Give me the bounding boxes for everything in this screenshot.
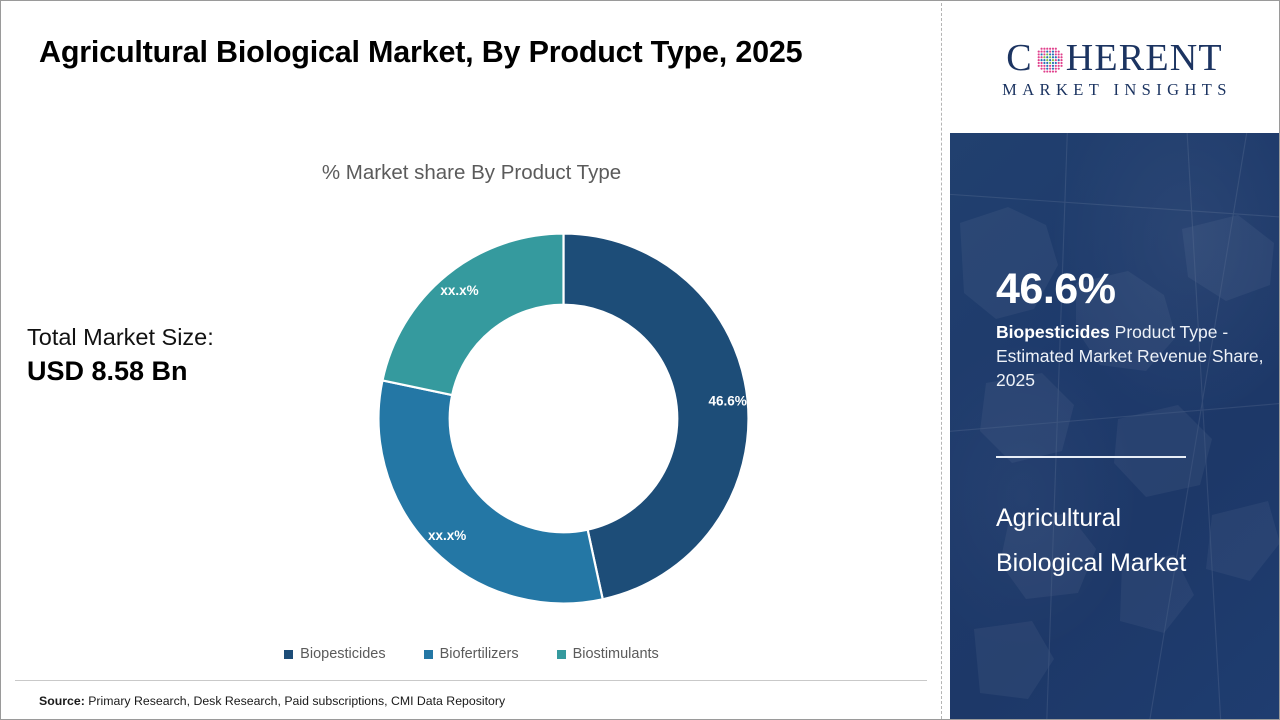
globe-dot: [1046, 53, 1048, 55]
source-note: Source: Primary Research, Desk Research,…: [39, 694, 505, 708]
stat-divider: [996, 456, 1186, 458]
sidebar-market-name: Agricultural Biological Market: [996, 496, 1211, 586]
logo-letters-rest: HERENT: [1066, 39, 1223, 77]
donut-chart-svg: 46.6%xx.x%xx.x%: [376, 226, 751, 611]
globe-dot: [1060, 62, 1062, 64]
globe-dot: [1049, 48, 1051, 50]
globe-dot: [1043, 56, 1045, 58]
logo-letter-c: C: [1006, 39, 1033, 77]
legend-item-biostimulants[interactable]: Biostimulants: [557, 646, 659, 662]
globe-dot: [1037, 65, 1039, 67]
globe-dot: [1060, 53, 1062, 55]
globe-dot: [1057, 53, 1059, 55]
globe-dot: [1046, 70, 1048, 72]
globe-dot: [1052, 50, 1054, 52]
globe-dot: [1060, 59, 1062, 61]
globe-dot: [1049, 62, 1051, 64]
globe-dot: [1052, 48, 1054, 50]
legend-item-biopesticides[interactable]: Biopesticides: [284, 646, 385, 662]
panel-separator: [941, 3, 942, 719]
globe-dot: [1046, 50, 1048, 52]
globe-dot: [1060, 56, 1062, 58]
total-market-size-block: Total Market Size: USD 8.58 Bn: [27, 323, 327, 389]
globe-dot: [1046, 59, 1048, 61]
globe-dot: [1054, 68, 1056, 70]
globe-dot: [1037, 56, 1039, 58]
globe-dot: [1037, 50, 1039, 52]
globe-dot: [1060, 65, 1062, 67]
donut-label-biopesticides: 46.6%: [708, 393, 746, 408]
globe-dot: [1043, 53, 1045, 55]
legend-swatch-icon: [424, 650, 433, 659]
globe-dot: [1040, 65, 1042, 67]
globe-dot: [1037, 53, 1039, 55]
globe-dot: [1046, 56, 1048, 58]
globe-dot: [1057, 62, 1059, 64]
brand-logo: C HERENT MARKET INSIGHTS: [950, 1, 1279, 133]
globe-dot: [1040, 53, 1042, 55]
legend-swatch-icon: [557, 650, 566, 659]
globe-dot: [1046, 68, 1048, 70]
globe-dot: [1046, 48, 1048, 50]
globe-dot: [1043, 68, 1045, 70]
globe-dot: [1054, 65, 1056, 67]
total-market-size-value: USD 8.58 Bn: [27, 354, 327, 389]
globe-dot: [1049, 70, 1051, 72]
globe-dot: [1043, 48, 1045, 50]
stat-description: Biopesticides Product Type - Estimated M…: [996, 321, 1268, 392]
globe-dot: [1037, 59, 1039, 61]
world-map-texture: [950, 133, 1279, 719]
globe-dot: [1057, 59, 1059, 61]
sidebar: C HERENT MARKET INSIGHTS: [950, 1, 1279, 719]
page-title: Agricultural Biological Market, By Produ…: [39, 31, 899, 73]
donut-label-biofertilizers: xx.x%: [428, 528, 466, 543]
logo-wordmark: C HERENT: [1006, 39, 1223, 77]
logo-tagline: MARKET INSIGHTS: [997, 80, 1232, 100]
donut-slice-biofertilizers[interactable]: [379, 380, 603, 603]
globe-dot: [1049, 59, 1051, 61]
globe-dot: [1054, 56, 1056, 58]
globe-dot: [1052, 56, 1054, 58]
donut-slice-biostimulants[interactable]: [382, 234, 563, 396]
globe-dot: [1040, 62, 1042, 64]
globe-dot: [1040, 48, 1042, 50]
globe-dot: [1043, 65, 1045, 67]
globe-dot: [1043, 70, 1045, 72]
globe-dot: [1046, 65, 1048, 67]
globe-dot: [1054, 70, 1056, 72]
globe-dot: [1049, 56, 1051, 58]
globe-dot: [1040, 50, 1042, 52]
stat-content: 46.6% Biopesticides Product Type - Estim…: [996, 267, 1251, 393]
globe-dot: [1049, 65, 1051, 67]
globe-dot: [1043, 50, 1045, 52]
globe-dot: [1049, 53, 1051, 55]
legend-swatch-icon: [284, 650, 293, 659]
globe-dot: [1049, 50, 1051, 52]
donut-chart: 46.6%xx.x%xx.x%: [376, 226, 751, 611]
globe-dot: [1054, 50, 1056, 52]
legend-item-biofertilizers[interactable]: Biofertilizers: [424, 646, 519, 662]
globe-dot: [1057, 65, 1059, 67]
footer-divider: [15, 680, 927, 681]
globe-dot: [1054, 62, 1056, 64]
legend-label: Biostimulants: [573, 646, 659, 662]
source-text: Primary Research, Desk Research, Paid su…: [85, 694, 505, 708]
donut-label-biostimulants: xx.x%: [440, 283, 478, 298]
globe-dot: [1049, 68, 1051, 70]
globe-dot: [1037, 62, 1039, 64]
globe-dot: [1052, 59, 1054, 61]
globe-dot: [1046, 62, 1048, 64]
globe-dot: [1057, 50, 1059, 52]
globe-dot: [1040, 59, 1042, 61]
stat-value: 46.6%: [996, 267, 1251, 312]
source-label: Source:: [39, 694, 85, 708]
globe-dot: [1054, 53, 1056, 55]
legend-label: Biofertilizers: [440, 646, 519, 662]
infographic-page: Agricultural Biological Market, By Produ…: [0, 0, 1280, 720]
total-market-size-label: Total Market Size:: [27, 323, 327, 352]
stat-description-bold: Biopesticides: [996, 322, 1110, 342]
globe-dot: [1057, 56, 1059, 58]
globe-dot: [1040, 56, 1042, 58]
globe-dot: [1052, 65, 1054, 67]
globe-dot: [1054, 48, 1056, 50]
globe-dot: [1052, 68, 1054, 70]
chart-subtitle: % Market share By Product Type: [1, 161, 942, 185]
main-content-panel: Agricultural Biological Market, By Produ…: [1, 1, 942, 719]
globe-dot: [1052, 53, 1054, 55]
globe-dots-icon: [1034, 44, 1065, 75]
chart-legend: BiopesticidesBiofertilizersBiostimulants: [1, 646, 942, 662]
globe-dot: [1052, 70, 1054, 72]
globe-dot: [1054, 59, 1056, 61]
globe-dot: [1043, 62, 1045, 64]
donut-slice-group: [379, 234, 749, 604]
legend-label: Biopesticides: [300, 646, 385, 662]
globe-dot: [1043, 59, 1045, 61]
stat-panel: 46.6% Biopesticides Product Type - Estim…: [950, 133, 1279, 719]
globe-dot: [1057, 68, 1059, 70]
globe-dot: [1040, 68, 1042, 70]
globe-dot: [1052, 62, 1054, 64]
